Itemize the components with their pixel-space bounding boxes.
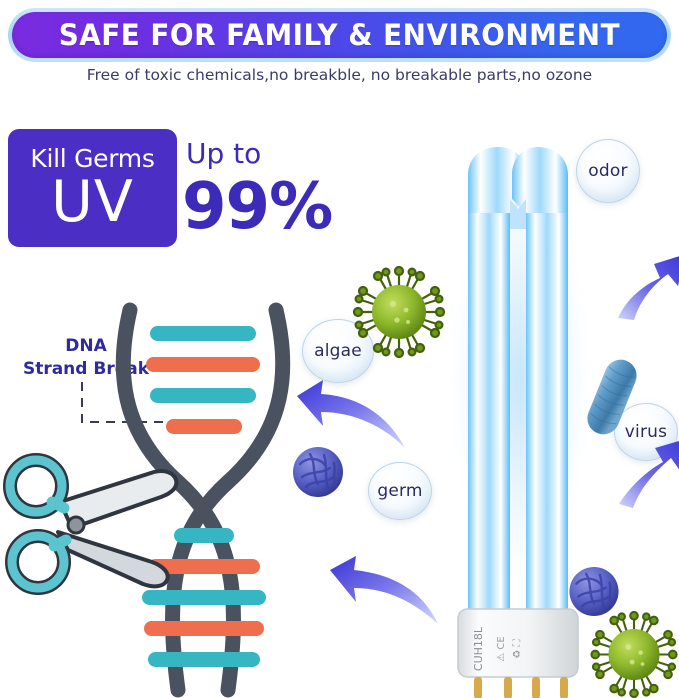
virus-green-top-icon (353, 266, 445, 358)
target-bubble-odor: odor (576, 139, 640, 203)
arrow-top-right-icon (616, 248, 679, 322)
scissors-handles (10, 460, 66, 588)
arrow-virus-icon (619, 430, 679, 510)
efficacy-percent: 99% (182, 175, 332, 239)
banner-title: SAFE FOR FAMILY & ENVIRONMENT (59, 18, 620, 52)
lamp-cert-marks-2: ♻ ⛶ (512, 638, 523, 658)
lamp-base-text: CUH18L (472, 626, 485, 671)
bacteria-rod-icon (584, 352, 640, 442)
uv-label: UV (51, 173, 134, 231)
germ-blue-right-icon (566, 564, 622, 619)
virus-green-bottom-icon (590, 611, 678, 698)
arrow-algae-icon (297, 378, 407, 460)
target-bubble-germ: germ (368, 462, 432, 520)
header-banner: SAFE FOR FAMILY & ENVIRONMENT (8, 8, 671, 62)
up-to-label: Up to (186, 140, 261, 168)
scissors-pivot (68, 517, 84, 533)
lamp-base: CUH18L ⚠ CE ♻ ⛶ (458, 609, 578, 677)
kill-germs-badge: Kill Germs UV (8, 129, 177, 247)
promo-infographic: SAFE FOR FAMILY & ENVIRONMENT Free of to… (0, 0, 679, 698)
banner-gradient: SAFE FOR FAMILY & ENVIRONMENT (12, 12, 667, 58)
arrow-bottom-left-icon (330, 556, 440, 636)
subtitle-text: Free of toxic chemicals,no breakble, no … (0, 66, 679, 84)
lamp-pins (474, 677, 568, 698)
bubble-label-odor: odor (588, 161, 627, 181)
lamp-tubes (468, 147, 568, 633)
bubble-label-germ: germ (377, 481, 422, 501)
lamp-cert-marks: ⚠ CE (496, 636, 507, 661)
scissors-icon (2, 440, 207, 615)
kill-germs-label: Kill Germs (30, 146, 154, 171)
uv-lamp: CUH18L ⚠ CE ♻ ⛶ (452, 133, 584, 698)
